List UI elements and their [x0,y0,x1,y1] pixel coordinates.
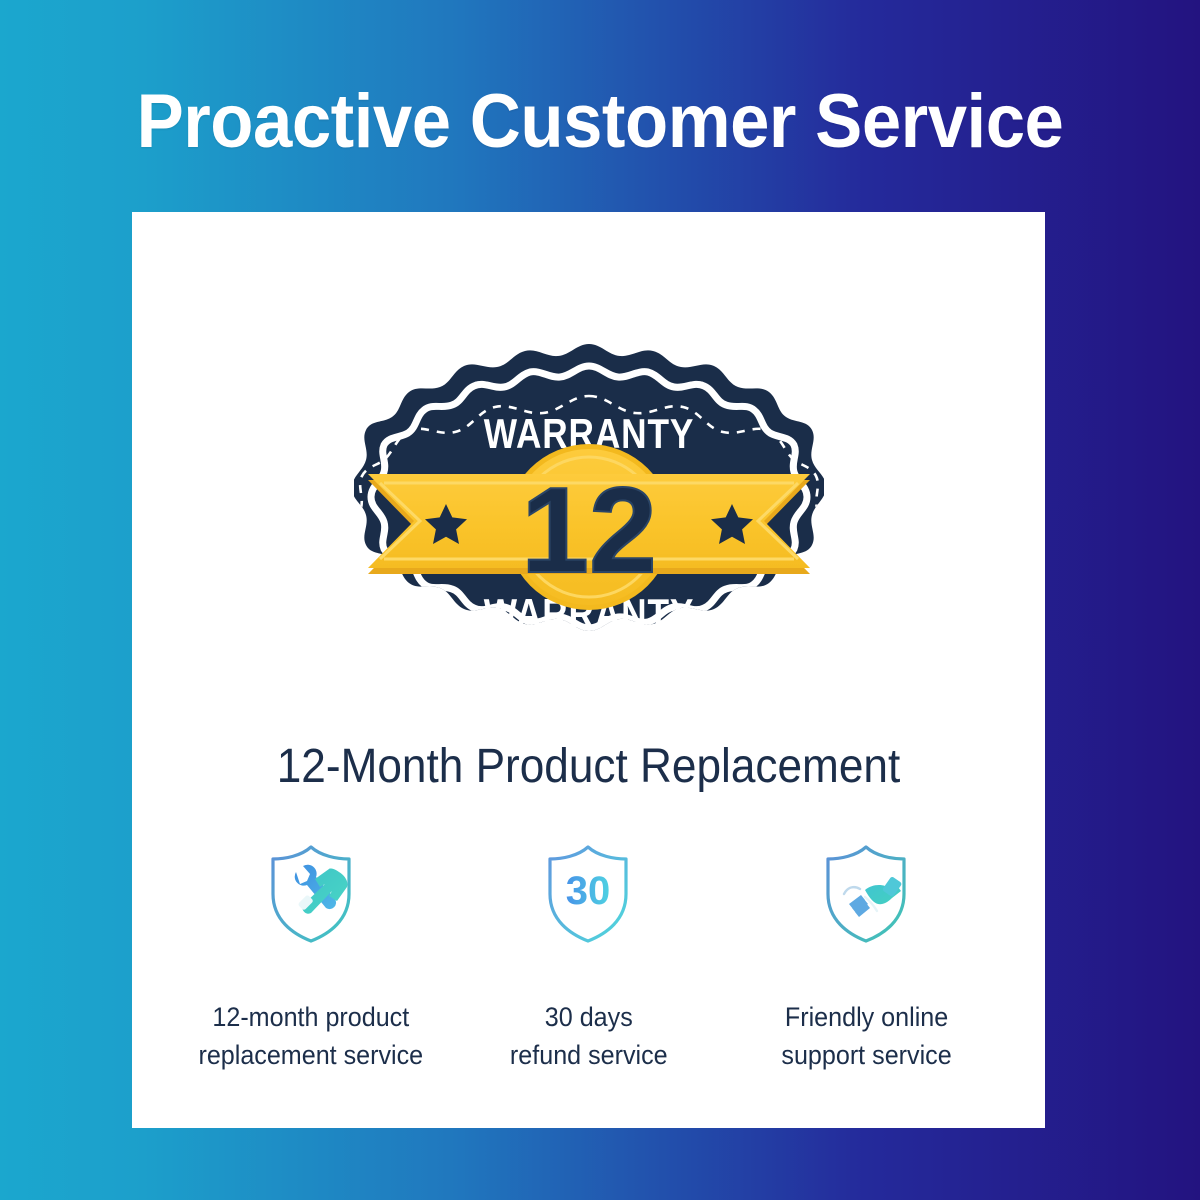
feature-item-replacement: 12-month product replacement service [186,842,436,1075]
shield-tools-icon [263,842,359,946]
feature-item-refund: 30 30 days refund service [463,842,713,1075]
shield-30-days-icon: 30 [540,842,636,946]
feature-label: Friendly online support service [781,998,951,1075]
content-card: WARRANTY WARRANTY 12 [132,212,1045,1128]
hammer-shape [297,868,347,913]
badge-number: 12 [521,462,657,598]
page-title: Proactive Customer Service [42,78,1158,165]
warranty-badge: WARRANTY WARRANTY 12 [354,340,824,710]
card-headline: 12-Month Product Replacement [169,739,1009,794]
shield-handshake-icon [818,842,914,946]
feature-label: 30 days refund service [510,998,668,1075]
feature-list: 12-month product replacement service [172,842,1005,1075]
feature-item-support: Friendly online support service [741,842,991,1075]
days-number: 30 [566,869,611,913]
feature-label: 12-month product replacement service [198,998,423,1075]
